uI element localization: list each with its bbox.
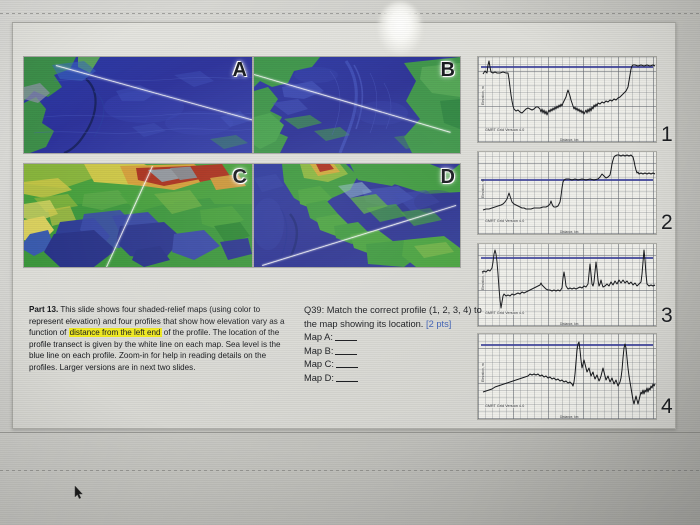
profile-4-ylabel: Elevation, m — [481, 363, 485, 382]
photographed-screen: A — [0, 0, 700, 525]
profile-panel-1[interactable]: GMRT Grid Version 4.0 Distance, km Eleva… — [477, 56, 657, 143]
answer-row-map-b[interactable]: Map B: — [304, 345, 494, 359]
map-b-letter: B — [441, 59, 455, 82]
map-panel-c[interactable]: C — [23, 163, 253, 268]
profile-number-2: 2 — [661, 211, 673, 235]
answer-blank-map-c[interactable] — [336, 359, 358, 368]
profile-1-xlabel: Distance, km — [560, 138, 578, 142]
map-panel-d[interactable]: D — [253, 163, 461, 268]
map-c-letter: C — [233, 166, 247, 189]
map-panel-a[interactable]: A — [23, 56, 253, 154]
map-d-letter: D — [441, 166, 455, 189]
answer-label-map-d: Map D: — [304, 373, 334, 383]
dotted-guide-bottom — [0, 470, 700, 471]
mouse-cursor-icon — [74, 485, 84, 500]
answer-blank-map-d[interactable] — [336, 373, 358, 382]
profile-3-ylabel: Elevation, m — [481, 271, 485, 290]
answer-blank-map-b[interactable] — [335, 346, 357, 355]
answer-row-map-c[interactable]: Map C: — [304, 358, 494, 372]
profile-number-1: 1 — [661, 123, 673, 147]
answer-label-map-c: Map C: — [304, 359, 334, 369]
profile-4-credit: GMRT Grid Version 4.0 — [484, 404, 525, 408]
map-panel-b[interactable]: B — [253, 56, 461, 154]
question-39-prompt: Q39: Match the correct profile (1, 2, 3,… — [304, 305, 482, 329]
part-13-text-block: Part 13. This slide shows four shaded-re… — [29, 304, 287, 374]
map-a-image — [24, 57, 252, 153]
profile-3-credit: GMRT Grid Version 4.0 — [484, 311, 525, 315]
map-d-image — [254, 164, 460, 267]
profile-3-xlabel: Distance, km — [560, 322, 578, 326]
profile-number-3: 3 — [661, 304, 673, 328]
profile-2-xlabel: Distance, km — [560, 230, 578, 234]
slide-canvas: A — [12, 22, 676, 429]
answer-label-map-a: Map A: — [304, 332, 333, 342]
profile-2-credit: GMRT Grid Version 4.0 — [484, 219, 525, 223]
question-39-points: [2 pts] — [426, 319, 451, 329]
answer-label-map-b: Map B: — [304, 346, 333, 356]
answer-row-map-d[interactable]: Map D: — [304, 372, 494, 386]
question-39-block: Q39: Match the correct profile (1, 2, 3,… — [304, 304, 494, 386]
map-a-letter: A — [233, 59, 247, 82]
answer-blank-map-a[interactable] — [335, 332, 357, 341]
profile-number-4: 4 — [661, 395, 673, 419]
map-c-image — [24, 164, 252, 267]
profile-1-ylabel: Elevation, m — [481, 86, 485, 105]
profile-1-credit: GMRT Grid Version 4.0 — [484, 128, 525, 132]
profile-4-xlabel: Distance, km — [560, 415, 578, 419]
profile-2-ylabel: Elevation, m — [481, 179, 485, 198]
part-13-label: Part 13. — [29, 305, 58, 314]
part-13-highlighted-phrase: distance from the left end — [69, 328, 162, 337]
answer-row-map-a[interactable]: Map A: — [304, 331, 494, 345]
profile-panel-4[interactable]: GMRT Grid Version 4.0 Distance, km Eleva… — [477, 333, 657, 420]
dotted-guide-top — [0, 13, 700, 14]
slide-bottom-edge — [0, 432, 700, 433]
profile-panel-2[interactable]: GMRT Grid Version 4.0 Distance, km Eleva… — [477, 151, 657, 235]
profile-panel-3[interactable]: GMRT Grid Version 4.0 Distance, km Eleva… — [477, 243, 657, 327]
